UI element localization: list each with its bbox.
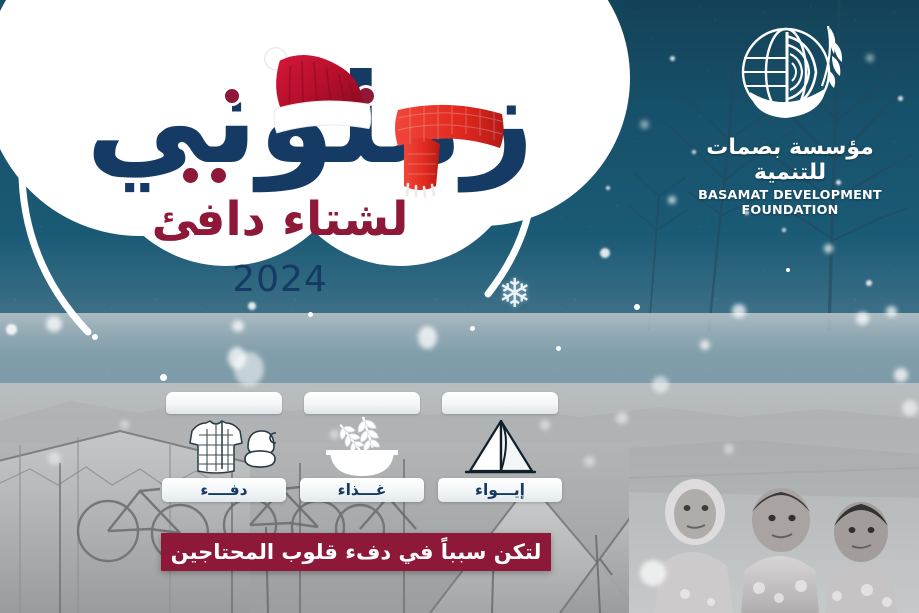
- service-card-label: إيـــواء: [438, 478, 562, 502]
- card-top-bar: [304, 392, 420, 414]
- santa-hat-icon: [255, 38, 379, 142]
- jacket-and-beanie-icon: [162, 414, 286, 480]
- card-top-bar: [166, 392, 282, 414]
- title-dot-lower-a: [180, 165, 201, 186]
- title-dot-upper-left: [222, 86, 242, 106]
- tent-icon: [438, 414, 562, 480]
- service-card-label: غـــذاء: [300, 478, 424, 502]
- campaign-year: 2024: [0, 262, 560, 298]
- logo-name-english: BASAMAT DEVELOPMENT FOUNDATION: [673, 187, 908, 217]
- campaign-subtitle: لشتاء دافئ: [0, 196, 560, 243]
- service-card-warmth[interactable]: دفــــء: [162, 392, 286, 502]
- card-top-bar: [442, 392, 558, 414]
- children-photo: [629, 438, 919, 613]
- title-dot-lower-b: [208, 165, 229, 186]
- organization-logo: مؤسسة بصمات للتنمية BASAMAT DEVELOPMENT …: [675, 18, 905, 217]
- logo-name-arabic: مؤسسة بصمات للتنمية: [675, 135, 905, 186]
- service-cards-row: دفــــء: [162, 392, 562, 502]
- service-card-label: دفــــء: [162, 478, 286, 502]
- service-card-food[interactable]: غـــذاء: [300, 392, 424, 502]
- call-to-action-banner: لتكن سبباً في دفء قلوب المحتاجين: [161, 533, 551, 571]
- globe-fingerprint-wheat-logo-icon: [730, 18, 850, 133]
- bowl-with-wheat-icon: [300, 414, 424, 480]
- service-card-shelter[interactable]: إيـــواء: [438, 392, 562, 502]
- red-scarf-icon: [390, 100, 510, 198]
- winter-campaign-poster: ❄ زملوني: [0, 0, 919, 613]
